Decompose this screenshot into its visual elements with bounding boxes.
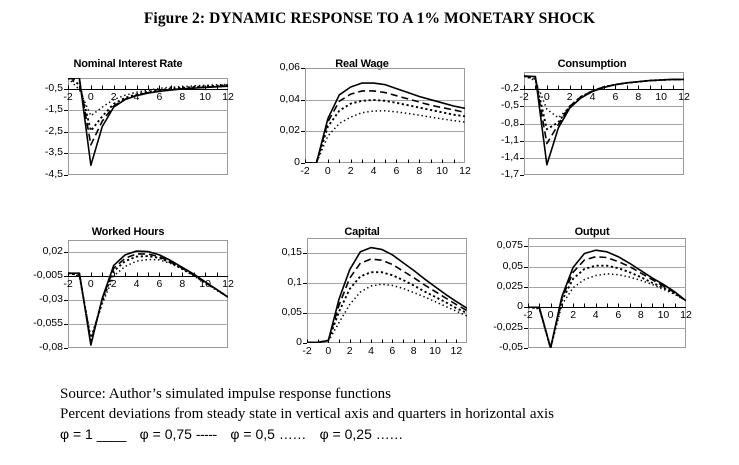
- y-tick-mark: [303, 343, 307, 344]
- x-axis-tick-label: 4: [125, 279, 149, 290]
- legend-label: φ = 1: [60, 426, 97, 442]
- x-axis-tick-label: 4: [362, 166, 386, 177]
- x-axis-tick-label: 6: [147, 279, 171, 290]
- x-axis-tick-label: 8: [407, 166, 431, 177]
- y-tick-mark: [64, 89, 68, 90]
- x-axis-tick-label: 10: [649, 92, 673, 103]
- figure-footnote: Source: Author’s simulated impulse respo…: [60, 385, 730, 443]
- y-tick-mark: [303, 253, 307, 254]
- y-tick-mark: [303, 283, 307, 284]
- legend-label: φ = 0,5: [230, 426, 278, 442]
- chart-title: Consumption: [492, 58, 692, 70]
- y-tick-mark: [524, 287, 528, 288]
- y-axis-tick-label: -0,055: [18, 318, 63, 329]
- x-axis-tick-label: 4: [584, 310, 608, 321]
- y-axis-tick-label: -0,03: [18, 294, 63, 305]
- y-axis-tick-label: -1,1: [474, 135, 519, 146]
- plot-area: [305, 68, 465, 163]
- y-axis-tick-label: 0,05: [478, 261, 523, 272]
- y-tick-mark: [524, 246, 528, 247]
- legend-entry: φ = 1 ____: [60, 426, 126, 442]
- x-axis-tick-label: 2: [339, 166, 363, 177]
- y-tick-mark: [524, 348, 528, 349]
- y-axis-tick-label: 0,04: [255, 94, 300, 105]
- y-tick-mark: [301, 163, 305, 164]
- x-axis-tick-label: 2: [561, 310, 585, 321]
- x-axis-tick-label: 10: [651, 310, 675, 321]
- series-line: [68, 259, 228, 337]
- y-axis-tick-label: 0,02: [255, 125, 300, 136]
- x-axis-tick-label: 0: [316, 166, 340, 177]
- y-tick-mark: [301, 68, 305, 69]
- legend-label: φ = 0,75: [140, 426, 196, 442]
- y-axis-tick-label: -0,05: [478, 342, 523, 353]
- y-axis-tick-label: -1,7: [474, 169, 519, 180]
- legend-line: φ = 1 ____ φ = 0,75 ----- φ = 0,5 …… φ =…: [60, 425, 730, 443]
- legend-line-sample: ……: [279, 426, 306, 442]
- x-axis-tick-label: 12: [216, 279, 240, 290]
- x-axis-tick-label: 6: [606, 310, 630, 321]
- y-axis-tick-label: -3,5: [18, 147, 63, 158]
- x-axis-tick-label: -2: [293, 166, 317, 177]
- x-axis-tick-label: 8: [626, 92, 650, 103]
- y-axis-tick-label: -0,08: [18, 342, 63, 353]
- legend-entry: φ = 0,75 -----: [140, 426, 217, 442]
- figure-title: Figure 2: DYNAMIC RESPONSE TO A 1% MONET…: [0, 10, 739, 28]
- y-axis-tick-label: 0,1: [257, 277, 302, 288]
- y-tick-mark: [520, 106, 524, 107]
- y-tick-mark: [303, 313, 307, 314]
- y-tick-mark: [524, 267, 528, 268]
- y-tick-mark: [64, 132, 68, 133]
- x-axis-tick-label: -2: [56, 92, 80, 103]
- axis-description-line: Percent deviations from steady state in …: [60, 405, 730, 425]
- x-axis-tick-label: 10: [193, 279, 217, 290]
- series-line: [68, 256, 228, 340]
- y-tick-mark: [520, 89, 524, 90]
- y-tick-mark: [64, 276, 68, 277]
- source-line: Source: Author’s simulated impulse respo…: [60, 385, 730, 405]
- x-axis-tick-label: 6: [147, 92, 171, 103]
- x-axis-tick-label: 10: [430, 166, 454, 177]
- x-axis-tick-label: 2: [558, 92, 582, 103]
- x-axis-tick-label: 0: [79, 279, 103, 290]
- y-tick-mark: [64, 175, 68, 176]
- y-axis-tick-label: 0,02: [18, 246, 63, 257]
- x-axis-tick-label: 12: [672, 92, 696, 103]
- chart-title: Worked Hours: [28, 226, 228, 238]
- series-line: [528, 257, 686, 348]
- legend-entry: φ = 0,25 ……: [320, 426, 403, 442]
- plot-area: [524, 72, 684, 175]
- y-tick-mark: [520, 158, 524, 159]
- y-tick-mark: [64, 300, 68, 301]
- legend-line-sample: -----: [196, 426, 217, 442]
- series-line: [305, 83, 465, 163]
- y-tick-mark: [64, 348, 68, 349]
- y-tick-mark: [301, 100, 305, 101]
- x-axis-tick-label: 0: [539, 310, 563, 321]
- x-axis-tick-label: 12: [444, 346, 468, 357]
- plot-area: [307, 238, 467, 343]
- y-tick-mark: [64, 153, 68, 154]
- x-axis-tick-label: -2: [56, 279, 80, 290]
- plot-frame: [529, 239, 686, 348]
- y-axis-tick-label: 0,05: [257, 307, 302, 318]
- x-axis-tick-label: 8: [170, 279, 194, 290]
- x-axis-tick-label: 8: [170, 92, 194, 103]
- y-tick-mark: [64, 110, 68, 111]
- x-axis-tick-label: 6: [603, 92, 627, 103]
- x-axis-tick-label: 2: [102, 92, 126, 103]
- x-axis-tick-label: 6: [384, 166, 408, 177]
- x-axis-tick-label: 4: [581, 92, 605, 103]
- y-tick-mark: [520, 141, 524, 142]
- series-line: [68, 254, 228, 342]
- legend-line-sample: ……: [376, 426, 403, 442]
- x-axis-tick-label: 0: [535, 92, 559, 103]
- y-tick-mark: [520, 175, 524, 176]
- x-axis-tick-label: 0: [79, 92, 103, 103]
- plot-area: [528, 238, 686, 348]
- y-axis-tick-label: -0,8: [474, 118, 519, 129]
- y-tick-mark: [524, 307, 528, 308]
- x-axis-tick-label: 4: [125, 92, 149, 103]
- y-tick-mark: [301, 131, 305, 132]
- chart-title: Output: [492, 226, 692, 238]
- y-axis-tick-label: 0,075: [478, 240, 523, 251]
- x-axis-tick-label: 12: [216, 92, 240, 103]
- y-axis-tick-label: -1,5: [18, 104, 63, 115]
- legend-line-sample: ____: [97, 426, 126, 442]
- x-axis-tick-label: -2: [516, 310, 540, 321]
- y-tick-mark: [64, 324, 68, 325]
- y-axis-tick-label: -4,5: [18, 169, 63, 180]
- y-axis-tick-label: -2,5: [18, 126, 63, 137]
- series-line: [68, 251, 228, 345]
- chart-title: Capital: [262, 226, 462, 238]
- x-axis-tick-label: 10: [193, 92, 217, 103]
- y-axis-tick-label: 0,06: [255, 62, 300, 73]
- y-axis-tick-label: 0,15: [257, 247, 302, 258]
- x-axis-tick-label: 8: [629, 310, 653, 321]
- x-axis-tick-label: -2: [512, 92, 536, 103]
- series-line: [307, 272, 467, 342]
- x-axis-tick-label: 2: [102, 279, 126, 290]
- legend-entry: φ = 0,5 ……: [230, 426, 305, 442]
- y-tick-mark: [520, 124, 524, 125]
- plot-area: [68, 240, 228, 348]
- y-axis-tick-label: 0,025: [478, 281, 523, 292]
- y-tick-mark: [64, 252, 68, 253]
- y-tick-mark: [524, 328, 528, 329]
- x-axis-tick-label: 12: [674, 310, 698, 321]
- y-axis-tick-label: -1,4: [474, 152, 519, 163]
- y-axis-tick-label: -0,025: [478, 322, 523, 333]
- chart-title: Nominal Interest Rate: [28, 58, 228, 70]
- legend-label: φ = 0,25: [320, 426, 376, 442]
